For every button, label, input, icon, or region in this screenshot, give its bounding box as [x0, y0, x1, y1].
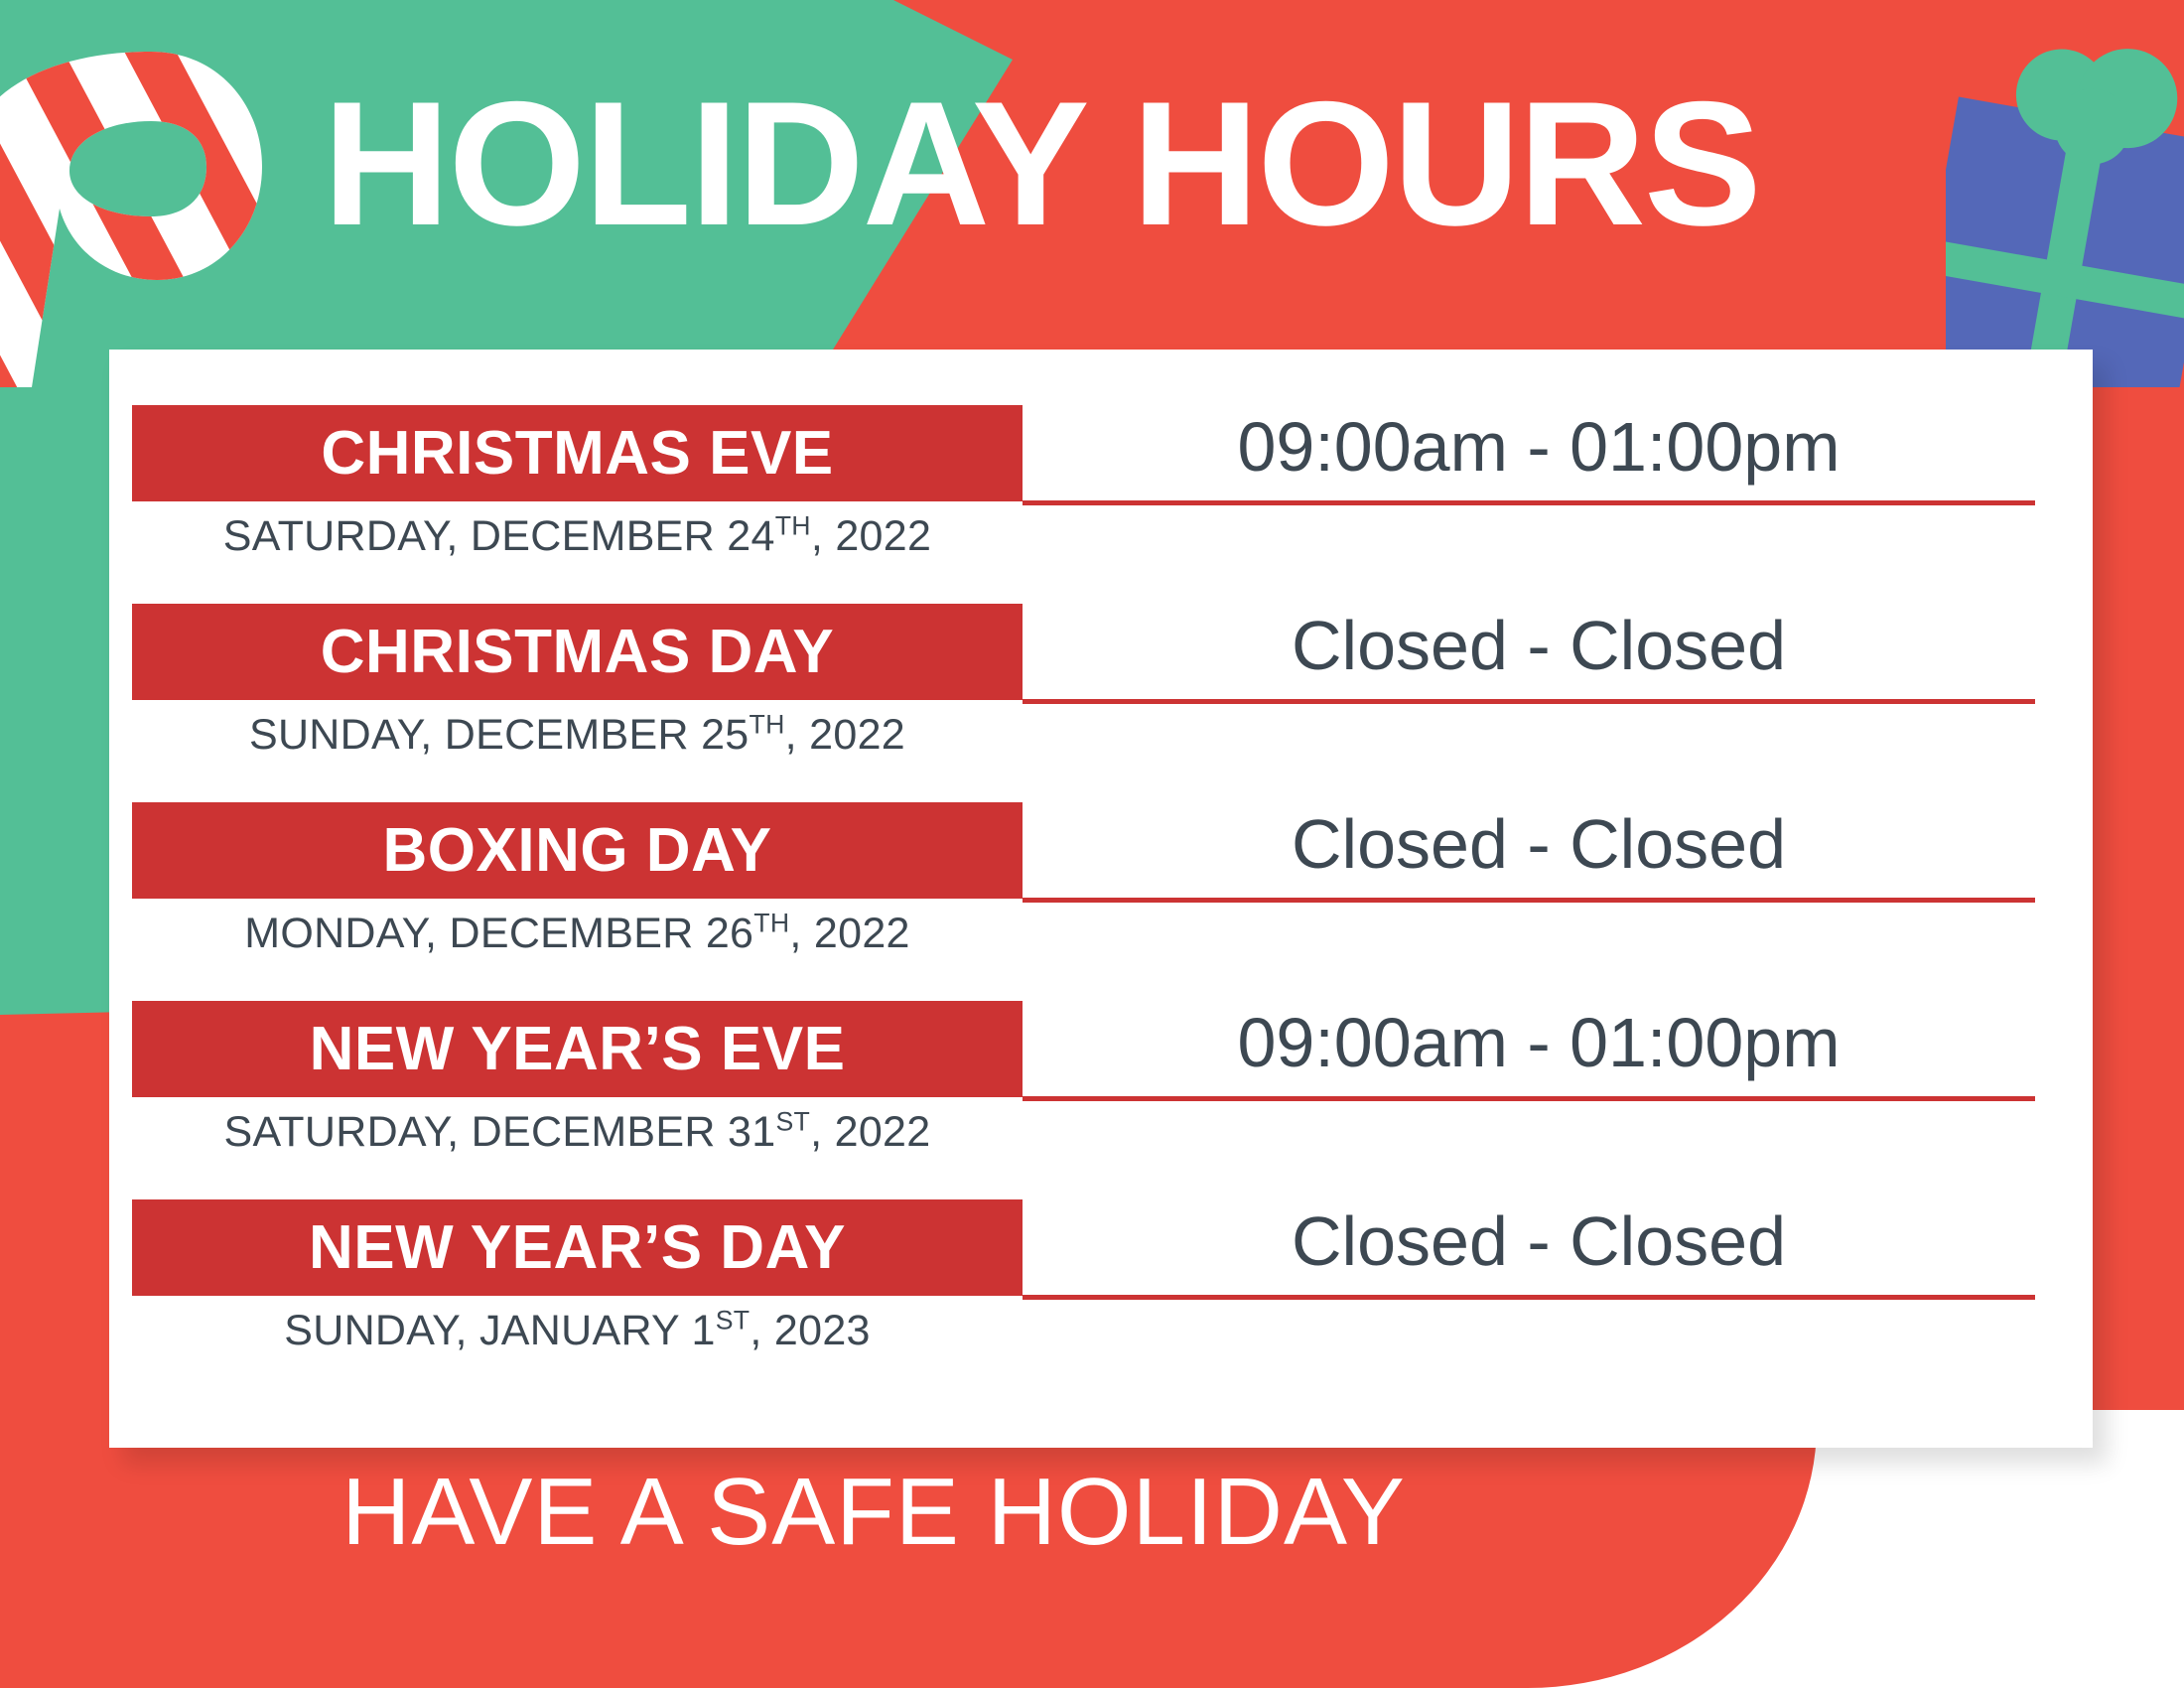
date-ordinal: ST: [716, 1306, 751, 1336]
holiday-name: CHRISTMAS DAY: [321, 622, 835, 683]
table-row: NEW YEAR’S EVE SATURDAY, DECEMBER 31ST, …: [109, 1001, 2093, 1199]
row-underline: [1023, 1096, 2035, 1101]
footer-message: HAVE A SAFE HOLIDAY: [0, 1458, 1747, 1567]
date-suffix: , 2022: [785, 711, 905, 759]
date-main: SATURDAY, DECEMBER 24: [223, 512, 775, 560]
date-suffix: , 2022: [810, 1108, 930, 1156]
candy-cane-icon: [0, 0, 278, 387]
table-row: CHRISTMAS EVE SATURDAY, DECEMBER 24TH, 2…: [109, 405, 2093, 604]
holiday-hours: 09:00am - 01:00pm: [1023, 993, 2055, 1092]
date-ordinal: TH: [750, 710, 785, 740]
row-underline: [1023, 1295, 2035, 1300]
holiday-name: CHRISTMAS EVE: [321, 423, 833, 485]
date-main: SATURDAY, DECEMBER 31: [224, 1108, 776, 1156]
date-ordinal: ST: [775, 1107, 810, 1137]
date-ordinal: TH: [775, 511, 811, 541]
holiday-name-bar: NEW YEAR’S DAY: [132, 1199, 1023, 1296]
date-suffix: , 2022: [811, 512, 931, 560]
holiday-name-bar: BOXING DAY: [132, 802, 1023, 899]
schedule-rows: CHRISTMAS EVE SATURDAY, DECEMBER 24TH, 2…: [109, 350, 2093, 1448]
holiday-name: NEW YEAR’S EVE: [310, 1019, 846, 1080]
holiday-hours: Closed - Closed: [1023, 794, 2055, 894]
holiday-name: NEW YEAR’S DAY: [309, 1217, 846, 1279]
date-suffix: , 2023: [750, 1307, 870, 1354]
date-suffix: , 2022: [789, 910, 909, 957]
date-main: MONDAY, DECEMBER 26: [244, 910, 753, 957]
holiday-hours-poster: HOLIDAY HOURS CHRISTMAS EVE SATURDAY, DE…: [0, 0, 2184, 1688]
holiday-hours: Closed - Closed: [1023, 1192, 2055, 1291]
holiday-date: SUNDAY, DECEMBER 25TH, 2022: [132, 707, 1023, 763]
table-row: BOXING DAY MONDAY, DECEMBER 26TH, 2022 C…: [109, 802, 2093, 1001]
holiday-name: BOXING DAY: [382, 820, 771, 882]
row-underline: [1023, 699, 2035, 704]
holiday-date: SATURDAY, DECEMBER 24TH, 2022: [132, 508, 1023, 564]
table-row: CHRISTMAS DAY SUNDAY, DECEMBER 25TH, 202…: [109, 604, 2093, 802]
table-row: NEW YEAR’S DAY SUNDAY, JANUARY 1ST, 2023…: [109, 1199, 2093, 1398]
row-underline: [1023, 898, 2035, 903]
page-title: HOLIDAY HOURS: [323, 70, 2010, 258]
date-main: SUNDAY, JANUARY 1: [284, 1307, 715, 1354]
date-main: SUNDAY, DECEMBER 25: [249, 711, 750, 759]
date-ordinal: TH: [753, 909, 789, 938]
holiday-hours: Closed - Closed: [1023, 596, 2055, 695]
schedule-card: CHRISTMAS EVE SATURDAY, DECEMBER 24TH, 2…: [109, 350, 2093, 1448]
holiday-name-bar: CHRISTMAS DAY: [132, 604, 1023, 700]
holiday-name-bar: NEW YEAR’S EVE: [132, 1001, 1023, 1097]
holiday-name-bar: CHRISTMAS EVE: [132, 405, 1023, 501]
holiday-date: SUNDAY, JANUARY 1ST, 2023: [132, 1303, 1023, 1358]
holiday-hours: 09:00am - 01:00pm: [1023, 397, 2055, 496]
holiday-date: MONDAY, DECEMBER 26TH, 2022: [132, 906, 1023, 961]
holiday-date: SATURDAY, DECEMBER 31ST, 2022: [132, 1104, 1023, 1160]
row-underline: [1023, 500, 2035, 505]
